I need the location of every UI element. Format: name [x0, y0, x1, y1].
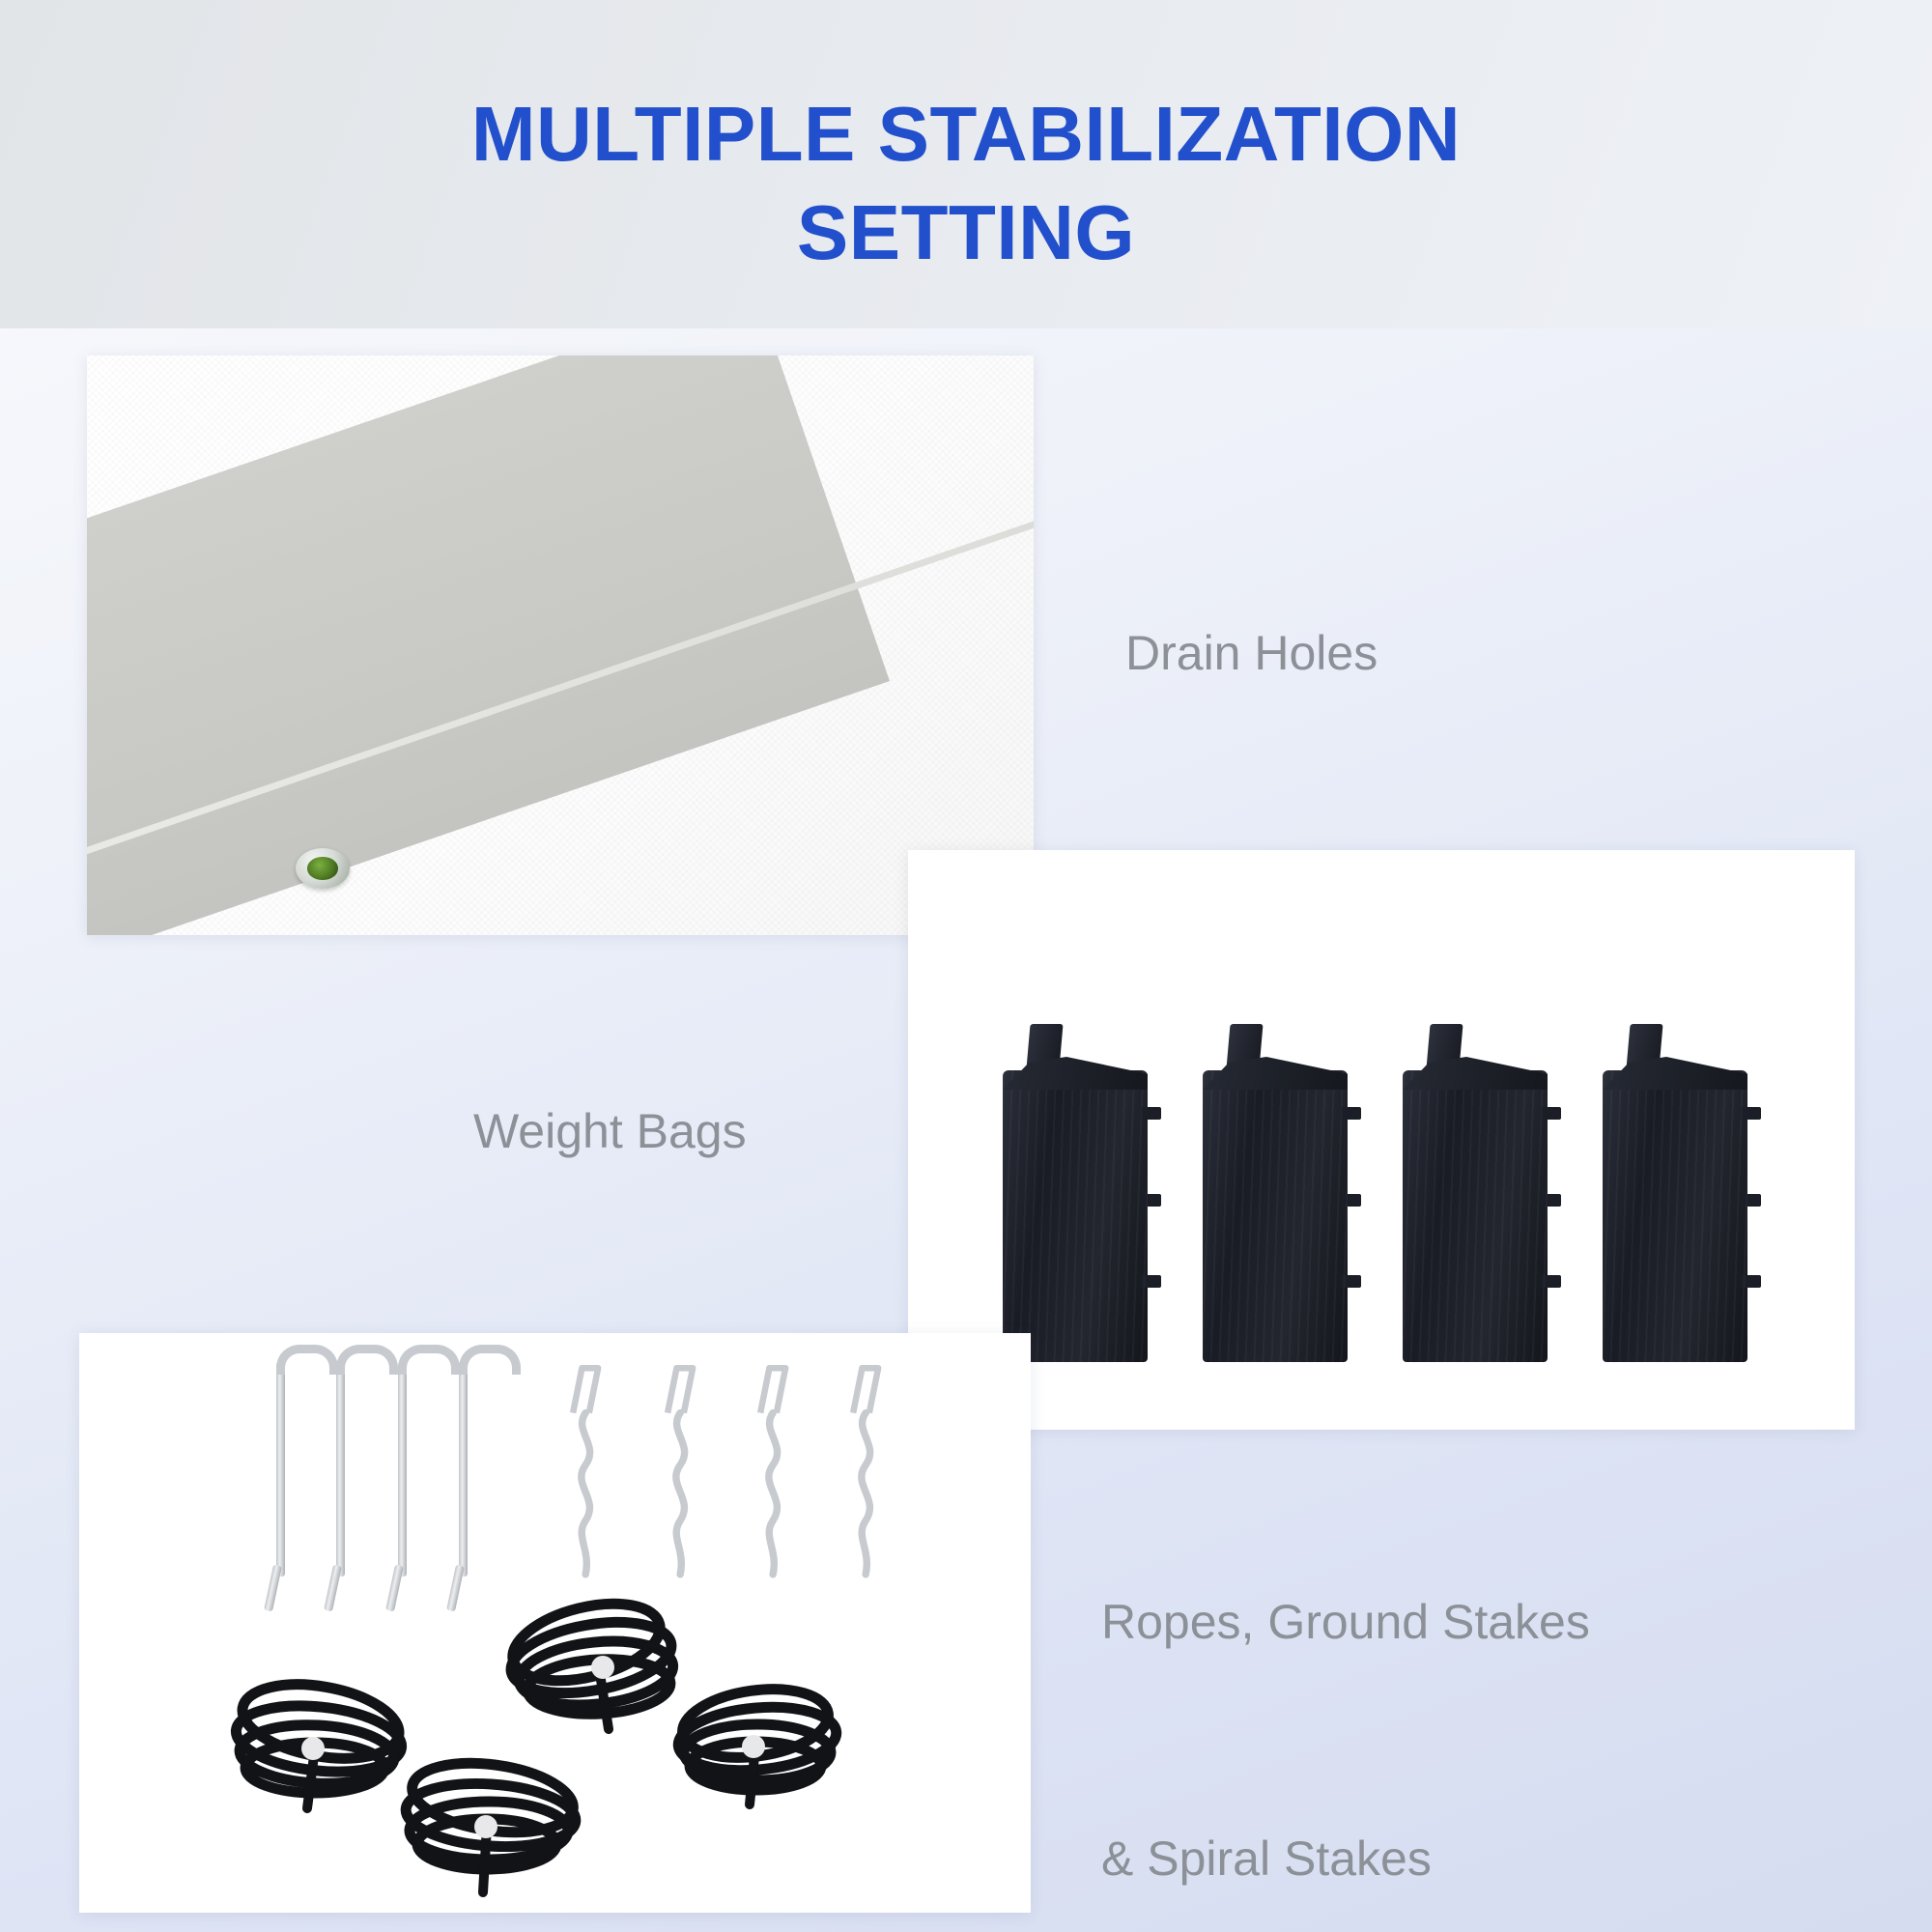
- weight-bag-body: [1403, 1070, 1548, 1362]
- weight-bags-photo: [908, 850, 1855, 1430]
- spiral-stake: [657, 1350, 707, 1592]
- product-feature-page: MULTIPLE STABILIZATION SETTING Drain Hol…: [0, 0, 1932, 1932]
- ground-stake: [398, 1362, 407, 1577]
- page-title-line-1: MULTIPLE STABILIZATION: [0, 85, 1932, 184]
- drain-holes-photo: [87, 355, 1034, 935]
- weight-bag-body: [1003, 1070, 1148, 1362]
- spiral-stake: [842, 1350, 893, 1592]
- caption-ropes-stakes-line-2: & Spiral Stakes: [1101, 1824, 1590, 1894]
- ground-stake: [459, 1362, 468, 1577]
- caption-spacer: [1101, 1727, 1590, 1754]
- stakes-ropes-photo: [79, 1333, 1031, 1913]
- weight-bag-tab: [1140, 1275, 1161, 1288]
- weight-bag-tab: [1340, 1275, 1361, 1288]
- weight-bag-tab: [1740, 1194, 1761, 1207]
- ground-stake-hook: [336, 1345, 398, 1375]
- weight-bag: [1203, 1024, 1348, 1362]
- ground-stake-tip: [324, 1565, 342, 1612]
- drain-hole-grommet: [296, 848, 350, 889]
- spiral-stake: [562, 1350, 612, 1592]
- caption-ropes-stakes: Ropes, Ground Stakes & Spiral Stakes: [1101, 1517, 1590, 1932]
- weight-bag-tab: [1140, 1107, 1161, 1120]
- weight-bag: [1003, 1024, 1148, 1362]
- weight-bag-body: [1603, 1070, 1747, 1362]
- caption-ropes-stakes-line-1: Ropes, Ground Stakes: [1101, 1587, 1590, 1658]
- header-band: MULTIPLE STABILIZATION SETTING: [0, 0, 1932, 328]
- weight-bag-tab: [1540, 1275, 1561, 1288]
- grommet-opening: [307, 857, 337, 880]
- weight-bag-tab: [1140, 1194, 1161, 1207]
- weight-bag-shoulder: [1003, 1057, 1148, 1090]
- weight-bag-tab: [1740, 1107, 1761, 1120]
- ground-stake-tip: [264, 1565, 282, 1612]
- weight-bag: [1403, 1024, 1548, 1362]
- spiral-stake: [750, 1350, 800, 1592]
- weight-bag-tab: [1340, 1107, 1361, 1120]
- weight-bag-shoulder: [1203, 1057, 1348, 1090]
- weight-bag-shoulder: [1403, 1057, 1548, 1090]
- weight-bag-shoulder: [1603, 1057, 1747, 1090]
- weight-bag-body: [1203, 1070, 1348, 1362]
- ground-stake-hook: [398, 1345, 460, 1375]
- ground-stake: [336, 1362, 345, 1577]
- weight-bag-tab: [1540, 1194, 1561, 1207]
- ground-stake-tip: [446, 1565, 465, 1612]
- weight-bag-tab: [1540, 1107, 1561, 1120]
- rope-coil: [369, 1734, 697, 1913]
- caption-weight-bags: Weight Bags: [473, 1096, 747, 1167]
- caption-drain-holes: Drain Holes: [1125, 618, 1378, 689]
- weight-bag: [1603, 1024, 1747, 1362]
- weight-bags-group: [908, 850, 1855, 1430]
- ground-stake-hook: [276, 1345, 338, 1375]
- page-title-line-2: SETTING: [0, 184, 1932, 282]
- weight-bag-tab: [1740, 1275, 1761, 1288]
- ground-stake: [276, 1362, 285, 1577]
- weight-bag-tab: [1340, 1194, 1361, 1207]
- page-title: MULTIPLE STABILIZATION SETTING: [0, 85, 1932, 283]
- ground-stake-tip: [385, 1565, 404, 1612]
- ground-stake-hook: [459, 1345, 521, 1375]
